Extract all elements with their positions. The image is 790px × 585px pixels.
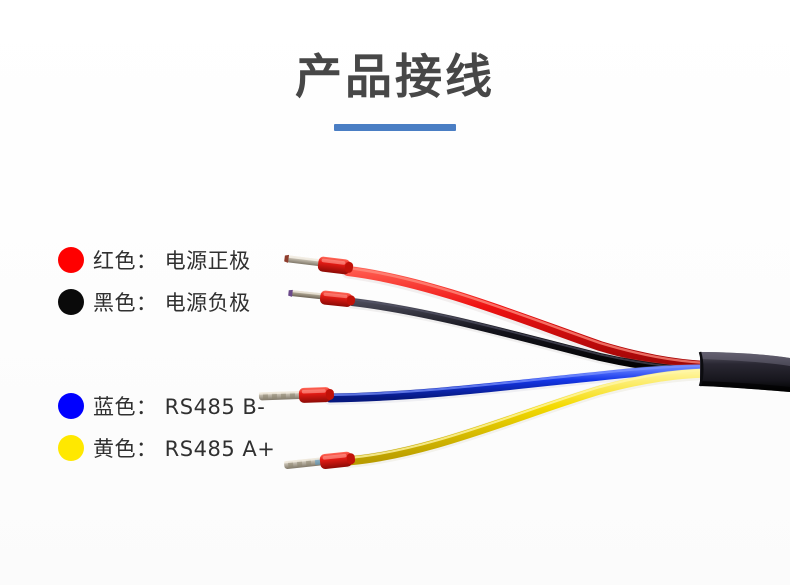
page-title: 产品接线 bbox=[0, 52, 790, 104]
wire-rs485-a bbox=[348, 370, 706, 462]
legend-label-blue: 蓝色： RS485 B- bbox=[93, 391, 265, 421]
legend-label-black: 黑色： 电源负极 bbox=[93, 287, 251, 317]
wire-power-positive bbox=[348, 268, 706, 368]
wire-power-negative bbox=[352, 300, 706, 374]
wire-rs485-b bbox=[330, 366, 706, 399]
page-title-block: 产品接线 bbox=[0, 52, 790, 131]
legend-label-yellow: 黄色： RS485 A+ bbox=[93, 433, 275, 463]
legend-rs485-group: 蓝色： RS485 B- 黄色： RS485 A+ bbox=[58, 390, 338, 464]
blue-dot-icon bbox=[58, 393, 84, 419]
legend-item-yellow: 黄色： RS485 A+ bbox=[58, 432, 338, 464]
yellow-dot-icon bbox=[58, 435, 84, 461]
legend-item-black: 黑色： 电源负极 bbox=[58, 286, 318, 318]
legend-item-red: 红色： 电源正极 bbox=[58, 244, 318, 276]
cable-sheath bbox=[700, 352, 790, 392]
product-wiring-page: 产品接线 bbox=[0, 0, 790, 585]
red-dot-icon bbox=[58, 247, 84, 273]
title-underline-rule bbox=[334, 124, 456, 131]
legend-item-blue: 蓝色： RS485 B- bbox=[58, 390, 338, 422]
legend-power-group: 红色： 电源正极 黑色： 电源负极 bbox=[58, 244, 318, 318]
black-dot-icon bbox=[58, 289, 84, 315]
legend-label-red: 红色： 电源正极 bbox=[93, 245, 251, 275]
